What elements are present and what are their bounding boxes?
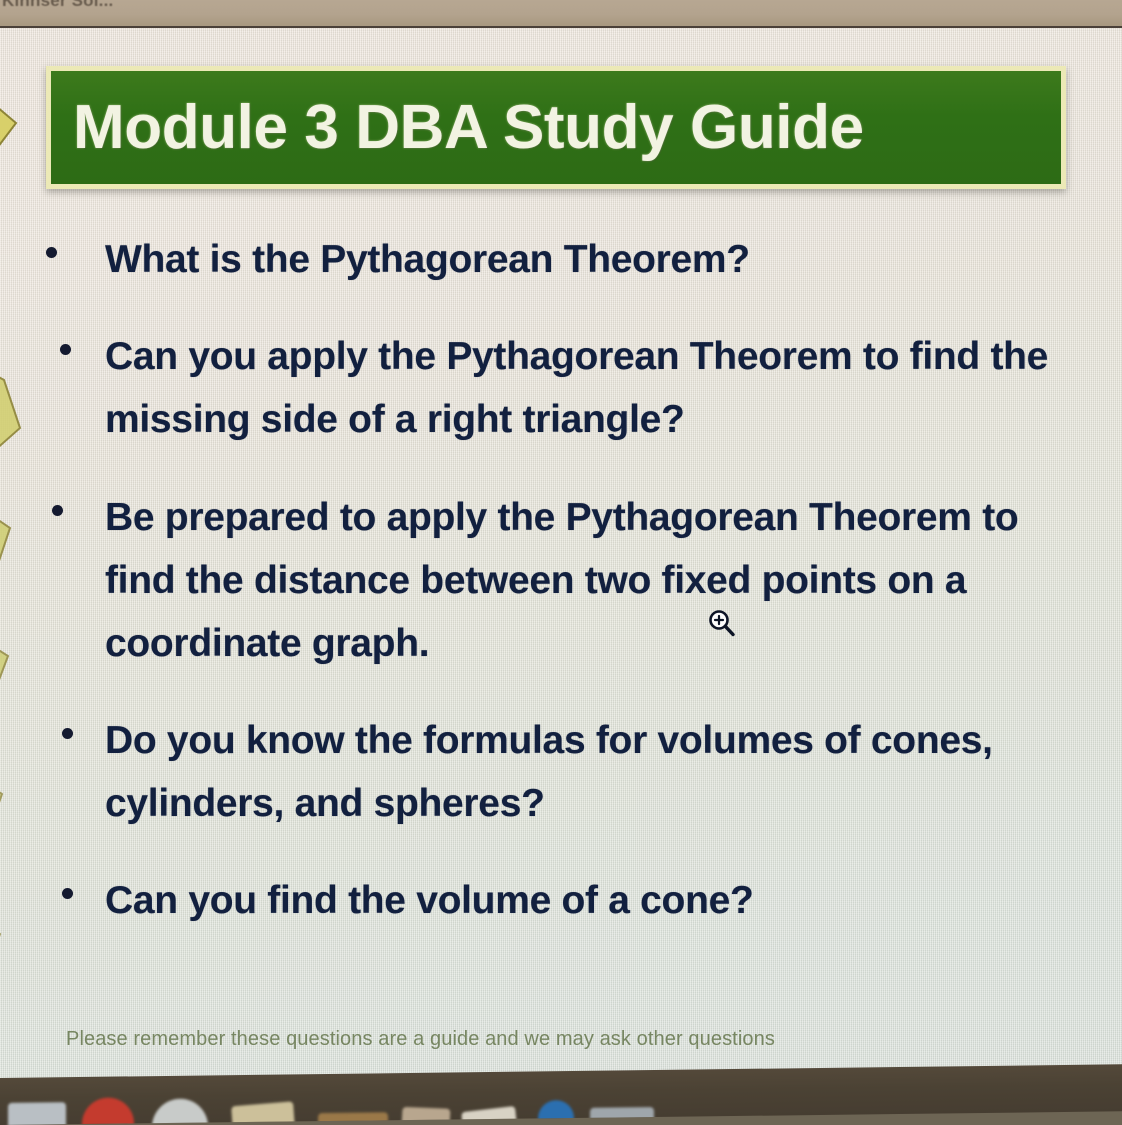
desk-object [402,1107,451,1125]
desk-object [82,1097,134,1125]
desk-object [318,1112,388,1125]
list-item-label: Can you find the volume of a cone? [105,869,1076,932]
desk-object [8,1102,66,1125]
list-item-label: Be prepared to apply the Pythagorean The… [105,486,1076,676]
list-item: Be prepared to apply the Pythagorean The… [46,486,1076,676]
slide-title-banner: Module 3 DBA Study Guide [46,66,1066,189]
bullet-dot-icon [62,888,73,899]
desk-object [152,1098,208,1125]
list-item-label: Do you know the formulas for volumes of … [105,709,1076,835]
list-item: Can you find the volume of a cone? [46,869,1076,932]
browser-tab-label[interactable]: Kinnser Sol... [2,0,113,11]
list-item-label: What is the Pythagorean Theorem? [105,228,1076,291]
desk-object [590,1107,654,1125]
decorative-border-shapes-icon [0,28,34,1090]
bullet-dot-icon [60,344,71,355]
photographed-screen: Kinnser Sol... Module 3 DBA Study Guide … [0,0,1122,1125]
browser-tab-strip[interactable]: Kinnser Sol... [0,0,1122,28]
bullet-dot-icon [52,505,63,516]
list-item: Do you know the formulas for volumes of … [46,709,1076,835]
bullet-dot-icon [62,728,73,739]
slide-footer-note: Please remember these questions are a gu… [66,1028,1066,1051]
page-title: Module 3 DBA Study Guide [73,92,864,163]
list-item: What is the Pythagorean Theorem? [46,228,1076,291]
desk-object [461,1106,517,1125]
desk-object [231,1101,295,1125]
bullet-list: What is the Pythagorean Theorem? Can you… [46,228,1076,967]
list-item-label: Can you apply the Pythagorean Theorem to… [105,325,1076,451]
presentation-slide: Module 3 DBA Study Guide What is the Pyt… [0,28,1122,1090]
desk-object [538,1100,574,1125]
bullet-dot-icon [46,247,57,258]
list-item: Can you apply the Pythagorean Theorem to… [46,325,1076,451]
